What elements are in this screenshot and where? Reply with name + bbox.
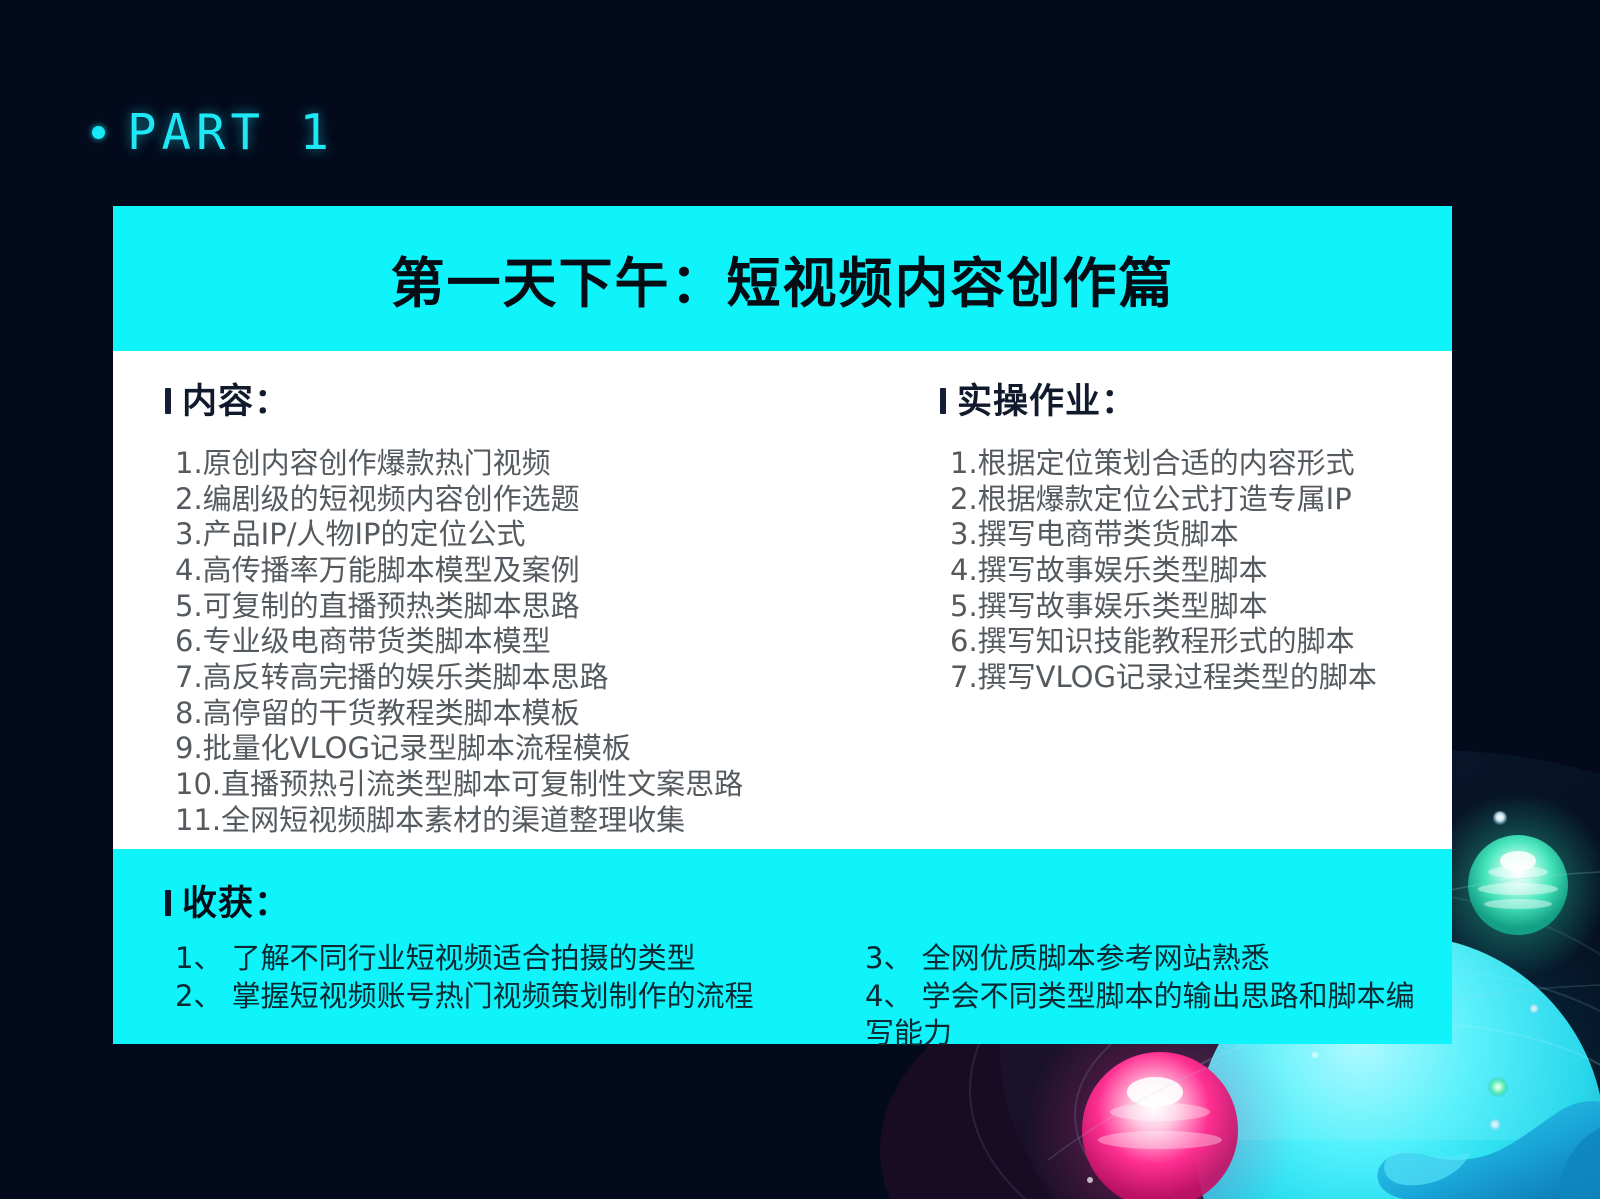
gains-columns: 1、 了解不同行业短视频适合拍摄的类型 2、 掌握短视频账号热门视频策划制作的流… <box>113 940 1452 1053</box>
section-marker-icon <box>165 890 171 916</box>
list-item: 7.撰写VLOG记录过程类型的脚本 <box>950 660 1452 696</box>
list-item: 5.撰写故事娱乐类型脚本 <box>950 589 1452 625</box>
list-item: 1.根据定位策划合适的内容形式 <box>950 446 1452 482</box>
card-title: 第一天下午：短视频内容创作篇 <box>391 239 1175 318</box>
list-item: 3.产品IP/人物IP的定位公式 <box>175 517 903 553</box>
content-section-heading: 内容： <box>165 373 903 424</box>
gains-band: 收获： 1、 了解不同行业短视频适合拍摄的类型 2、 掌握短视频账号热门视频策划… <box>113 849 1452 1044</box>
list-item: 5.可复制的直播预热类脚本思路 <box>175 589 903 625</box>
list-item: 2、 掌握短视频账号热门视频策划制作的流程 <box>175 978 865 1016</box>
list-item: 4.撰写故事娱乐类型脚本 <box>950 553 1452 589</box>
list-item: 2.编剧级的短视频内容创作选题 <box>175 482 903 518</box>
bullet-dot-icon <box>92 126 105 139</box>
gains-section-heading: 收获： <box>165 875 1452 926</box>
list-item: 6.撰写知识技能教程形式的脚本 <box>950 624 1452 660</box>
gains-list-left: 1、 了解不同行业短视频适合拍摄的类型 2、 掌握短视频账号热门视频策划制作的流… <box>175 940 865 1015</box>
homework-section-heading: 实操作业： <box>940 373 1452 424</box>
gains-section-label: 收获： <box>182 875 290 926</box>
list-item: 4.高传播率万能脚本模型及案例 <box>175 553 903 589</box>
section-marker-icon <box>940 388 946 414</box>
list-item: 4、 学会不同类型脚本的输出思路和脚本编写能力 <box>865 978 1440 1053</box>
list-item: 1、 了解不同行业短视频适合拍摄的类型 <box>175 940 865 978</box>
list-item: 7.高反转高完播的娱乐类脚本思路 <box>175 660 903 696</box>
card-title-band: 第一天下午：短视频内容创作篇 <box>113 206 1452 351</box>
list-item: 6.专业级电商带货类脚本模型 <box>175 624 903 660</box>
section-marker-icon <box>165 388 171 414</box>
slide-part-heading: PART 1 <box>92 108 334 157</box>
card-body: 内容： 1.原创内容创作爆款热门视频 2.编剧级的短视频内容创作选题 3.产品I… <box>113 351 1452 849</box>
list-item: 3.撰写电商带类货脚本 <box>950 517 1452 553</box>
homework-column: 实操作业： 1.根据定位策划合适的内容形式 2.根据爆款定位公式打造专属IP 3… <box>903 365 1452 849</box>
content-column: 内容： 1.原创内容创作爆款热门视频 2.编剧级的短视频内容创作选题 3.产品I… <box>113 365 903 849</box>
content-card: 第一天下午：短视频内容创作篇 内容： 1.原创内容创作爆款热门视频 2.编剧级的… <box>113 206 1452 1044</box>
gains-list-right: 3、 全网优质脚本参考网站熟悉 4、 学会不同类型脚本的输出思路和脚本编写能力 <box>865 940 1425 1053</box>
list-item: 3、 全网优质脚本参考网站熟悉 <box>865 940 1425 978</box>
content-item-list: 1.原创内容创作爆款热门视频 2.编剧级的短视频内容创作选题 3.产品IP/人物… <box>163 446 903 838</box>
list-item: 10.直播预热引流类型脚本可复制性文案思路 <box>175 767 903 803</box>
part-heading-label: PART 1 <box>127 108 334 157</box>
gains-column-right: 3、 全网优质脚本参考网站熟悉 4、 学会不同类型脚本的输出思路和脚本编写能力 <box>865 940 1425 1053</box>
homework-item-list: 1.根据定位策划合适的内容形式 2.根据爆款定位公式打造专属IP 3.撰写电商带… <box>938 446 1452 696</box>
content-section-label: 内容： <box>182 373 290 424</box>
list-item: 8.高停留的干货教程类脚本模板 <box>175 696 903 732</box>
gains-column-left: 1、 了解不同行业短视频适合拍摄的类型 2、 掌握短视频账号热门视频策划制作的流… <box>175 940 865 1053</box>
list-item: 1.原创内容创作爆款热门视频 <box>175 446 903 482</box>
list-item: 9.批量化VLOG记录型脚本流程模板 <box>175 731 903 767</box>
list-item: 11.全网短视频脚本素材的渠道整理收集 <box>175 803 903 839</box>
homework-section-label: 实操作业： <box>957 373 1137 424</box>
list-item: 2.根据爆款定位公式打造专属IP <box>950 482 1452 518</box>
